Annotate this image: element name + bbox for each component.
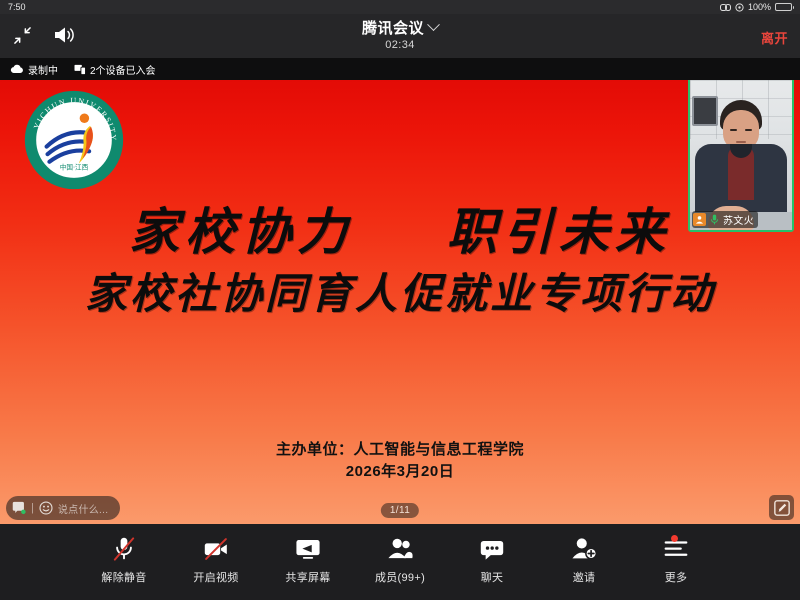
video-toggle-button[interactable]: 开启视频 xyxy=(184,533,248,591)
svg-text:中国·江西: 中国·江西 xyxy=(60,162,89,171)
chat-input-bar[interactable]: | 说点什么... xyxy=(6,496,120,520)
devices-label: 2个设备已入会 xyxy=(90,62,156,77)
mute-toggle-label: 解除静音 xyxy=(101,569,146,585)
chat-label: 聊天 xyxy=(481,569,504,585)
chat-icon[interactable] xyxy=(478,533,506,565)
slide-page-indicator: 1/11 xyxy=(381,503,419,518)
participants-icon[interactable] xyxy=(386,533,414,565)
chevron-down-icon[interactable] xyxy=(427,18,440,31)
pen-annotate-icon[interactable] xyxy=(774,500,790,516)
participants-label: 成员(99+) xyxy=(375,569,425,585)
meeting-bottom-toolbar: 解除静音 开启视频 共享屏幕 xyxy=(0,524,800,600)
tencent-meeting-app: 7:50 100% xyxy=(0,0,800,600)
slide-sub-title: 家校社协同育人促就业专项行动 xyxy=(0,260,800,321)
leave-meeting-button[interactable]: 离开 xyxy=(761,28,788,47)
mute-toggle-button[interactable]: 解除静音 xyxy=(92,533,156,591)
screen-record-icon xyxy=(720,3,731,12)
participant-name: 苏文火 xyxy=(723,212,754,227)
slide-main-title: 家校协力 职引未来 xyxy=(0,192,800,264)
microphone-on-icon xyxy=(708,213,721,226)
battery-percent: 100% xyxy=(748,2,771,12)
annotate-button[interactable] xyxy=(769,495,794,520)
devices-joined-icon xyxy=(74,64,86,75)
meeting-title: 腾讯会议 xyxy=(362,17,424,38)
slide-organizer: 主办单位：人工智能与信息工程学院 xyxy=(0,438,800,459)
meeting-timer: 02:34 xyxy=(0,39,800,51)
chat-bubble-icon[interactable] xyxy=(12,501,26,515)
invite-label: 邀请 xyxy=(573,569,596,585)
os-status-bar: 7:50 100% xyxy=(0,0,800,14)
user-avatar-icon xyxy=(693,213,706,226)
chat-separator: | xyxy=(31,502,34,514)
recording-label: 录制中 xyxy=(28,62,58,77)
os-status-right: 100% xyxy=(720,2,792,12)
invite-user-icon[interactable] xyxy=(570,533,598,565)
meeting-title-block[interactable]: 腾讯会议 02:34 xyxy=(0,17,800,51)
participants-button[interactable]: 成员(99+) xyxy=(368,533,432,591)
microphone-muted-icon[interactable] xyxy=(110,533,138,565)
slide-date: 2026年3月20日 xyxy=(0,460,800,481)
chat-button[interactable]: 聊天 xyxy=(460,533,524,591)
yichun-university-seal-icon: YICHUN UNIVERSITY 宜春学院 中国·江西 xyxy=(22,88,126,192)
location-icon xyxy=(735,3,744,12)
meeting-notice-bar: 录制中 2个设备已入会 xyxy=(0,58,800,80)
share-screen-label: 共享屏幕 xyxy=(285,569,330,585)
video-off-icon[interactable] xyxy=(202,533,230,565)
emoji-smile-icon[interactable] xyxy=(39,501,53,515)
cloud-recording-icon xyxy=(10,64,24,74)
os-clock: 7:50 xyxy=(8,2,26,12)
devices-joined-indicator: 2个设备已入会 xyxy=(74,62,156,77)
more-button[interactable]: 更多 xyxy=(644,533,708,591)
shared-screen-stage[interactable]: YICHUN UNIVERSITY 宜春学院 中国·江西 家校协力 职引未来 家… xyxy=(0,80,800,524)
self-view-video-tile[interactable]: 苏文火 xyxy=(688,60,794,232)
participant-nameplate: 苏文火 xyxy=(692,211,758,228)
invite-button[interactable]: 邀请 xyxy=(552,533,616,591)
more-menu-icon[interactable] xyxy=(662,533,690,565)
share-screen-icon[interactable] xyxy=(294,533,322,565)
battery-icon xyxy=(775,3,792,11)
more-badge-dot xyxy=(671,535,678,542)
share-screen-button[interactable]: 共享屏幕 xyxy=(276,533,340,591)
chat-input-placeholder[interactable]: 说点什么... xyxy=(58,501,108,516)
video-toggle-label: 开启视频 xyxy=(193,569,238,585)
recording-indicator: 录制中 xyxy=(10,62,58,77)
meeting-top-bar: 腾讯会议 02:34 离开 xyxy=(0,14,800,58)
meeting-title-row[interactable]: 腾讯会议 xyxy=(362,17,438,38)
more-label: 更多 xyxy=(665,569,688,585)
